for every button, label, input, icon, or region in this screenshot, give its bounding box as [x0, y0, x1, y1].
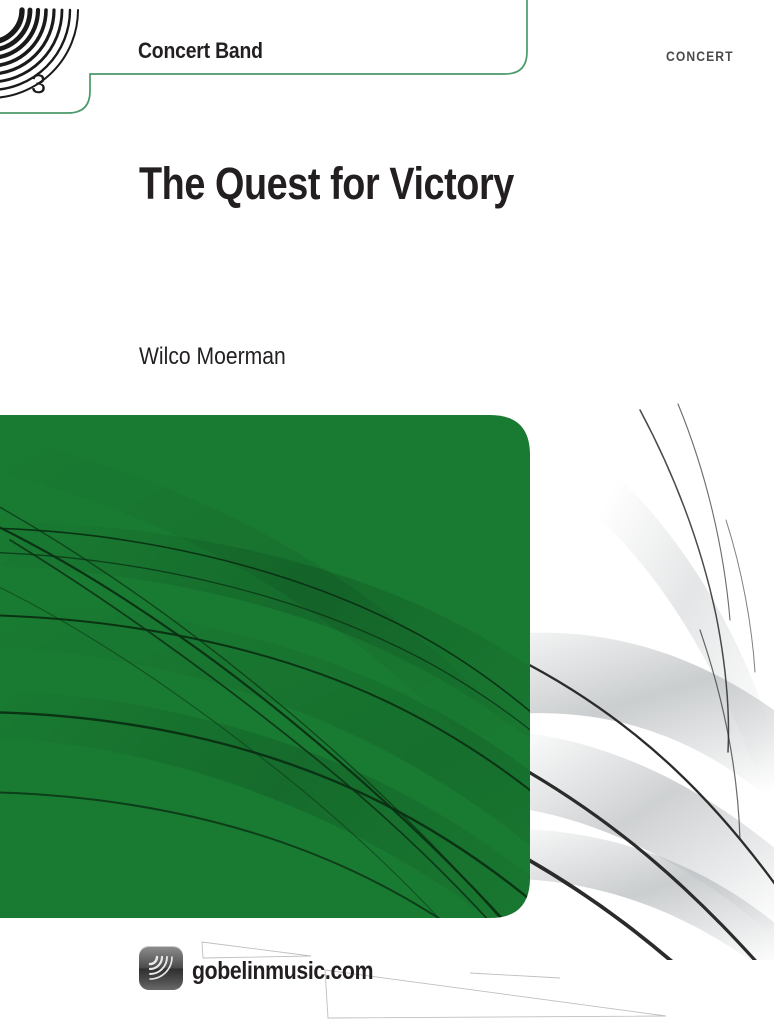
page-title: The Quest for Victory — [139, 158, 514, 210]
publisher-url[interactable]: gobelinmusic.com — [192, 957, 373, 986]
ensemble-label: Concert Band — [138, 38, 263, 64]
publisher-badge-icon[interactable] — [139, 946, 183, 990]
series-label: CONCERT — [666, 49, 734, 64]
sheet-music-cover: 3 Concert Band CONCERT The Quest for Vic… — [0, 0, 774, 1024]
cover-artwork — [0, 400, 774, 960]
composer-name: Wilco Moerman — [139, 343, 286, 371]
grade-number: 3 — [31, 69, 46, 100]
header-frame-outline — [0, 0, 774, 130]
rss-arcs-icon — [147, 954, 175, 982]
